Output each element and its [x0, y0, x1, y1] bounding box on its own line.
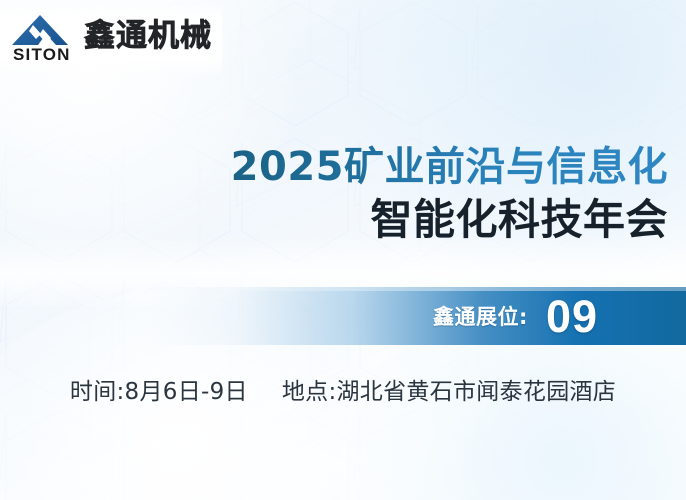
logo-latin-name: SITON [13, 46, 71, 63]
brand-logo: SITON 鑫通机械 [10, 14, 212, 62]
promo-poster: SITON 鑫通机械 2025矿业前沿与信息化 智能化科技年会 鑫通展位: 09… [0, 0, 686, 500]
headline-line-2: 智能化科技年会 [0, 193, 668, 247]
event-time: 时间:8月6日-9日 [70, 372, 248, 406]
booth-banner-bar: 鑫通展位: 09 [150, 287, 686, 345]
booth-label: 鑫通展位: [433, 301, 528, 331]
event-details: 时间:8月6日-9日 地点:湖北省黄石市闻泰花园酒店 [0, 372, 686, 406]
headline-block: 2025矿业前沿与信息化 智能化科技年会 [0, 141, 668, 247]
bar-highlight [150, 287, 686, 291]
mountain-logo-icon: SITON [10, 14, 76, 62]
headline-line-1: 2025矿业前沿与信息化 [0, 141, 668, 193]
logo-chinese-name: 鑫通机械 [84, 21, 212, 52]
event-location: 地点:湖北省黄石市闻泰花园酒店 [282, 372, 616, 406]
booth-number: 09 [546, 294, 598, 339]
